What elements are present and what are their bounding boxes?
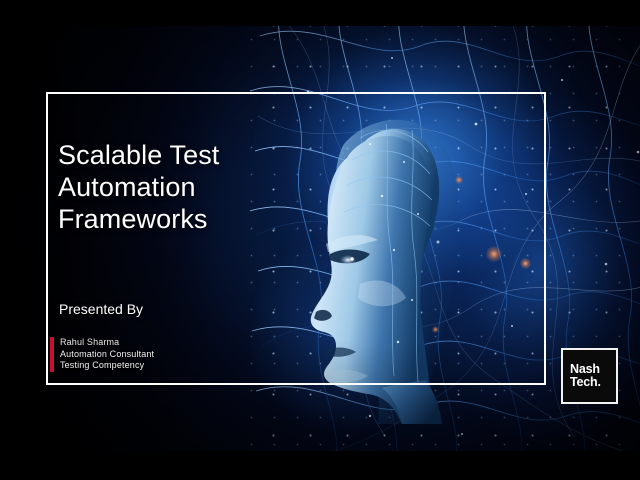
presenter-details: Rahul Sharma Automation Consultant Testi… — [50, 337, 154, 372]
presented-by-label: Presented By — [59, 300, 143, 318]
logo-line-nash: Nash — [570, 363, 616, 377]
presenter-name: Rahul Sharma — [60, 337, 154, 349]
presenter-team: Testing Competency — [60, 360, 154, 372]
slide-title: Scalable Test Automation Frameworks — [58, 139, 308, 235]
nashtech-logo: Nash Tech. — [561, 348, 618, 404]
red-accent-bar — [50, 337, 54, 372]
letterbox-top — [0, 0, 640, 26]
screenshot-root: Scalable Test Automation Frameworks Pres… — [0, 0, 640, 480]
logo-line-tech: Tech. — [570, 376, 616, 390]
presenter-role: Automation Consultant — [60, 349, 154, 361]
presenter-text-lines: Rahul Sharma Automation Consultant Testi… — [60, 337, 154, 372]
ai-face-illustration — [286, 104, 466, 424]
letterbox-bottom — [0, 451, 640, 480]
presentation-slide: Scalable Test Automation Frameworks Pres… — [0, 26, 640, 451]
